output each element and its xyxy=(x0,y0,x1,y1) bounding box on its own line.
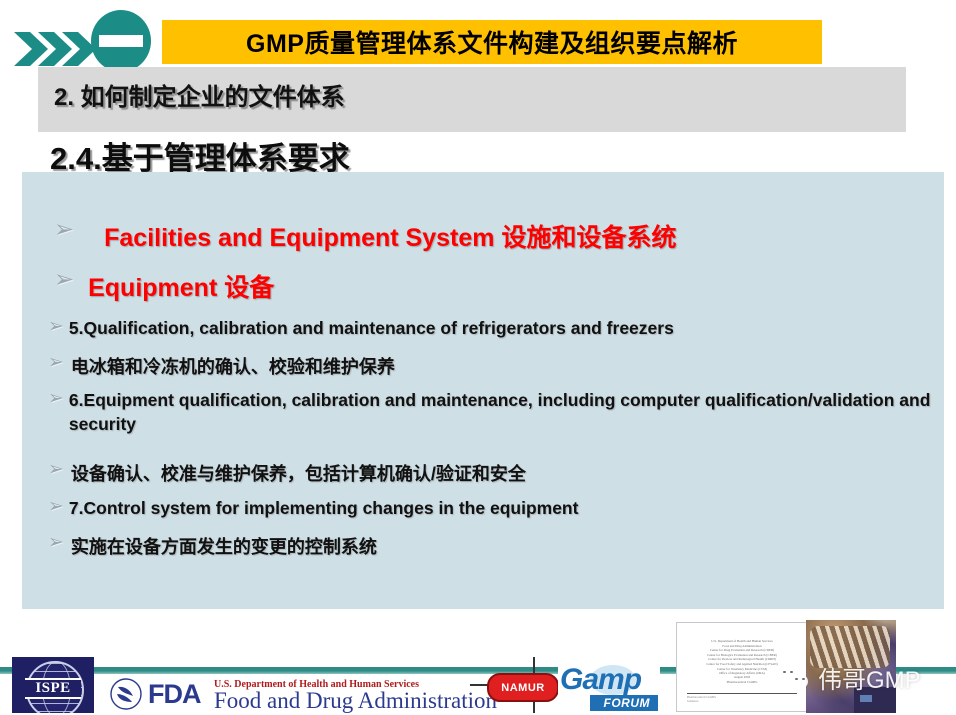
bullet-row: ➢ 实施在设备方面发生的变更的控制系统 xyxy=(48,533,944,559)
page-title: GMP质量管理体系文件构建及组织要点解析 xyxy=(246,24,738,60)
bullet-text: Equipment 设备 xyxy=(88,268,944,304)
bullet-text: 实施在设备方面发生的变更的控制系统 xyxy=(71,533,944,559)
bullet-text-en: Facilities and Equipment System xyxy=(104,224,494,252)
bullet-text: 设备确认、校准与维护保养，包括计算机确认/验证和安全 xyxy=(71,460,944,486)
bullet-arrow-icon: ➢ xyxy=(48,353,64,372)
bullet-text: 5.Qualification, calibration and mainten… xyxy=(69,317,944,341)
fda-agency-line: Food and Drug Administration xyxy=(214,688,497,714)
header-logo xyxy=(8,10,168,72)
ispe-logo: ISPE xyxy=(12,657,94,713)
bullet-arrow-icon: ➢ xyxy=(48,317,64,336)
bullet-text-en: Equipment xyxy=(88,274,217,302)
doc-thumb-date: August 2002Pharmaceutical CGMPs xyxy=(677,675,807,684)
photo-thumbnail xyxy=(806,620,896,713)
bullet-arrow-icon: ➢ xyxy=(48,389,64,408)
bullet-text: 6.Equipment qualification, calibration a… xyxy=(69,389,948,436)
gamp-forum-label: FORUM xyxy=(590,695,659,711)
bullet-arrow-icon: ➢ xyxy=(48,460,64,479)
bullet-row: ➢ Equipment 设备 xyxy=(54,268,944,304)
doc-thumb-title: U.S. Department of Health and Human Serv… xyxy=(677,639,807,676)
chevron-arrows-circle-bar-icon xyxy=(8,10,168,72)
bullet-text-cn: 设施和设备系统 xyxy=(501,224,676,252)
bullet-arrow-icon: ➢ xyxy=(48,533,64,552)
bullet-row: ➢ 5.Qualification, calibration and maint… xyxy=(48,317,944,341)
bullet-row: ➢ 电冰箱和冷冻机的确认、校验和维护保养 xyxy=(48,353,944,379)
gamp-logo: Gamp FORUM xyxy=(558,661,660,713)
section-bar: 2. 如何制定企业的文件体系 xyxy=(38,67,906,132)
content-panel: ➢ Facilities and Equipment System 设施和设备系… xyxy=(22,172,944,609)
doc-thumb-footer: Pharmaceutical CGMPsGuidance xyxy=(687,696,716,703)
bullet-row: ➢ 设备确认、校准与维护保养，包括计算机确认/验证和安全 xyxy=(48,460,944,486)
title-banner: GMP质量管理体系文件构建及组织要点解析 xyxy=(162,20,822,64)
gamp-wordmark: Gamp xyxy=(560,663,641,697)
section-label: 2. 如何制定企业的文件体系 xyxy=(54,77,345,112)
document-thumbnail: U.S. Department of Health and Human Serv… xyxy=(676,622,808,712)
bullet-arrow-icon: ➢ xyxy=(54,268,74,292)
ispe-wordmark: ISPE xyxy=(25,678,81,699)
bullet-text: Facilities and Equipment System 设施和设备系统 xyxy=(104,218,944,254)
namur-wordmark: NAMUR xyxy=(501,682,544,694)
bullet-arrow-icon: ➢ xyxy=(54,218,74,242)
coil-graphic xyxy=(810,626,890,668)
bullet-text: 7.Control system for implementing change… xyxy=(69,497,944,521)
bullet-text-cn: 设备 xyxy=(224,274,274,302)
photo-lower-block xyxy=(854,687,896,713)
bullet-arrow-icon: ➢ xyxy=(48,497,64,516)
bullet-text: 电冰箱和冷冻机的确认、校验和维护保养 xyxy=(71,353,944,379)
namur-logo: NAMUR xyxy=(487,673,559,702)
bullet-row: ➢ Facilities and Equipment System 设施和设备系… xyxy=(54,218,944,254)
fda-wordmark: FDA xyxy=(148,679,201,710)
hhs-seal-icon xyxy=(108,678,144,710)
bullet-row: ➢ 6.Equipment qualification, calibration… xyxy=(48,389,948,436)
doc-thumb-rule xyxy=(687,693,797,694)
bullet-row: ➢ 7.Control system for implementing chan… xyxy=(48,497,944,521)
